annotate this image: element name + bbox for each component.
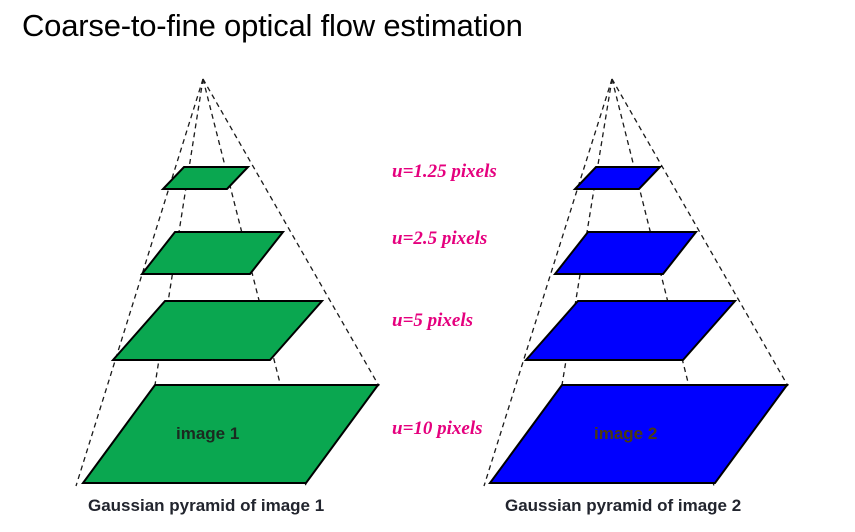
pyramid-right-level-2: [526, 301, 735, 360]
inner-label-left: image 1: [176, 424, 239, 444]
flow-label-level-2: u=5 pixels: [392, 310, 473, 332]
flow-label-level-1: u=2.5 pixels: [392, 228, 487, 250]
inner-label-right: image 2: [594, 424, 657, 444]
pyramid-right-level-0: [575, 167, 660, 189]
pyramid-caption-left: Gaussian pyramid of image 1: [88, 496, 324, 516]
pyramid-right-level-1: [555, 232, 696, 274]
flow-label-level-3: u=10 pixels: [392, 418, 483, 440]
flow-label-level-0: u=1.25 pixels: [392, 161, 497, 183]
pyramid-left-level-1: [142, 232, 283, 274]
slide-canvas: Coarse-to-fine optical flow estimation u…: [0, 0, 855, 532]
pyramid-diagram: [0, 0, 855, 532]
pyramid-left-level-2: [113, 301, 322, 360]
pyramid-left-level-0: [163, 167, 248, 189]
pyramid-caption-right: Gaussian pyramid of image 2: [505, 496, 741, 516]
